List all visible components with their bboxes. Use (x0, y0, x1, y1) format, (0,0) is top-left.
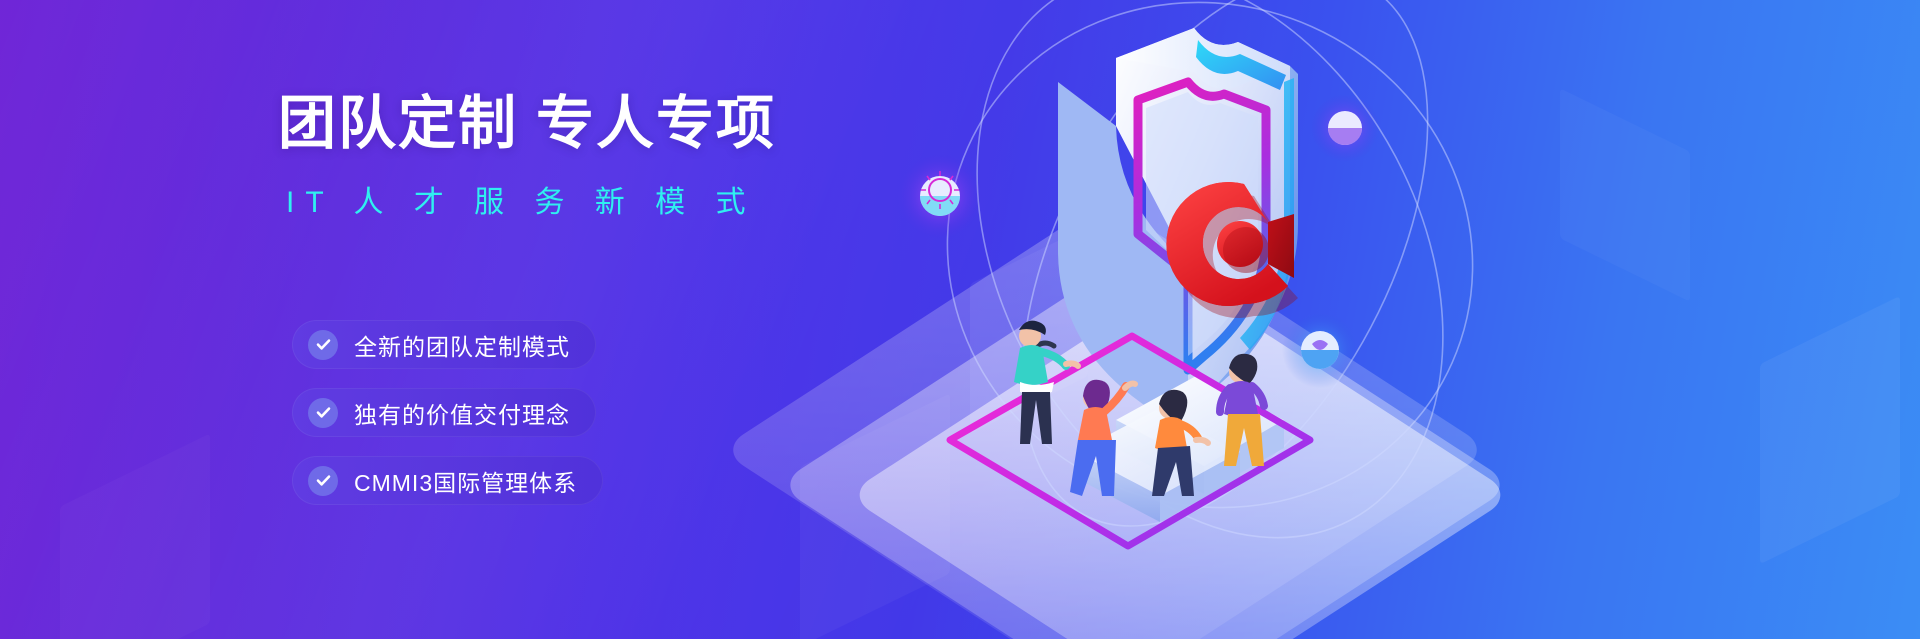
feature-pill-label: 全新的团队定制模式 (354, 328, 570, 362)
node-blue-sphere (1282, 312, 1358, 388)
ghost-cube-shape (60, 433, 210, 639)
check-icon (308, 330, 338, 360)
feature-pill-2[interactable]: 独有的价值交付理念 (292, 388, 596, 437)
page-title: 团队定制专人专项 (278, 92, 918, 157)
feature-pill-3[interactable]: CMMI3国际管理体系 (292, 456, 603, 505)
check-icon (308, 466, 338, 496)
headline-part-2: 专人专项 (536, 91, 776, 156)
feature-list: 全新的团队定制模式 独有的价值交付理念 CMMI3国际管理体系 (292, 320, 603, 505)
page-subtitle: IT 人 才 服 务 新 模 式 (286, 177, 918, 221)
hero-illustration (880, 0, 1920, 639)
headline-part-1: 团队定制 (278, 91, 518, 156)
copy-block: 团队定制专人专项 IT 人 才 服 务 新 模 式 (278, 92, 918, 221)
promo-banner: 团队定制专人专项 IT 人 才 服 务 新 模 式 全新的团队定制模式 独有的价… (0, 0, 1920, 639)
node-violet-sphere (1311, 94, 1379, 162)
feature-pill-label: 独有的价值交付理念 (354, 396, 570, 430)
feature-pill-1[interactable]: 全新的团队定制模式 (292, 320, 596, 369)
feature-pill-label: CMMI3国际管理体系 (354, 464, 577, 498)
check-icon (308, 398, 338, 428)
